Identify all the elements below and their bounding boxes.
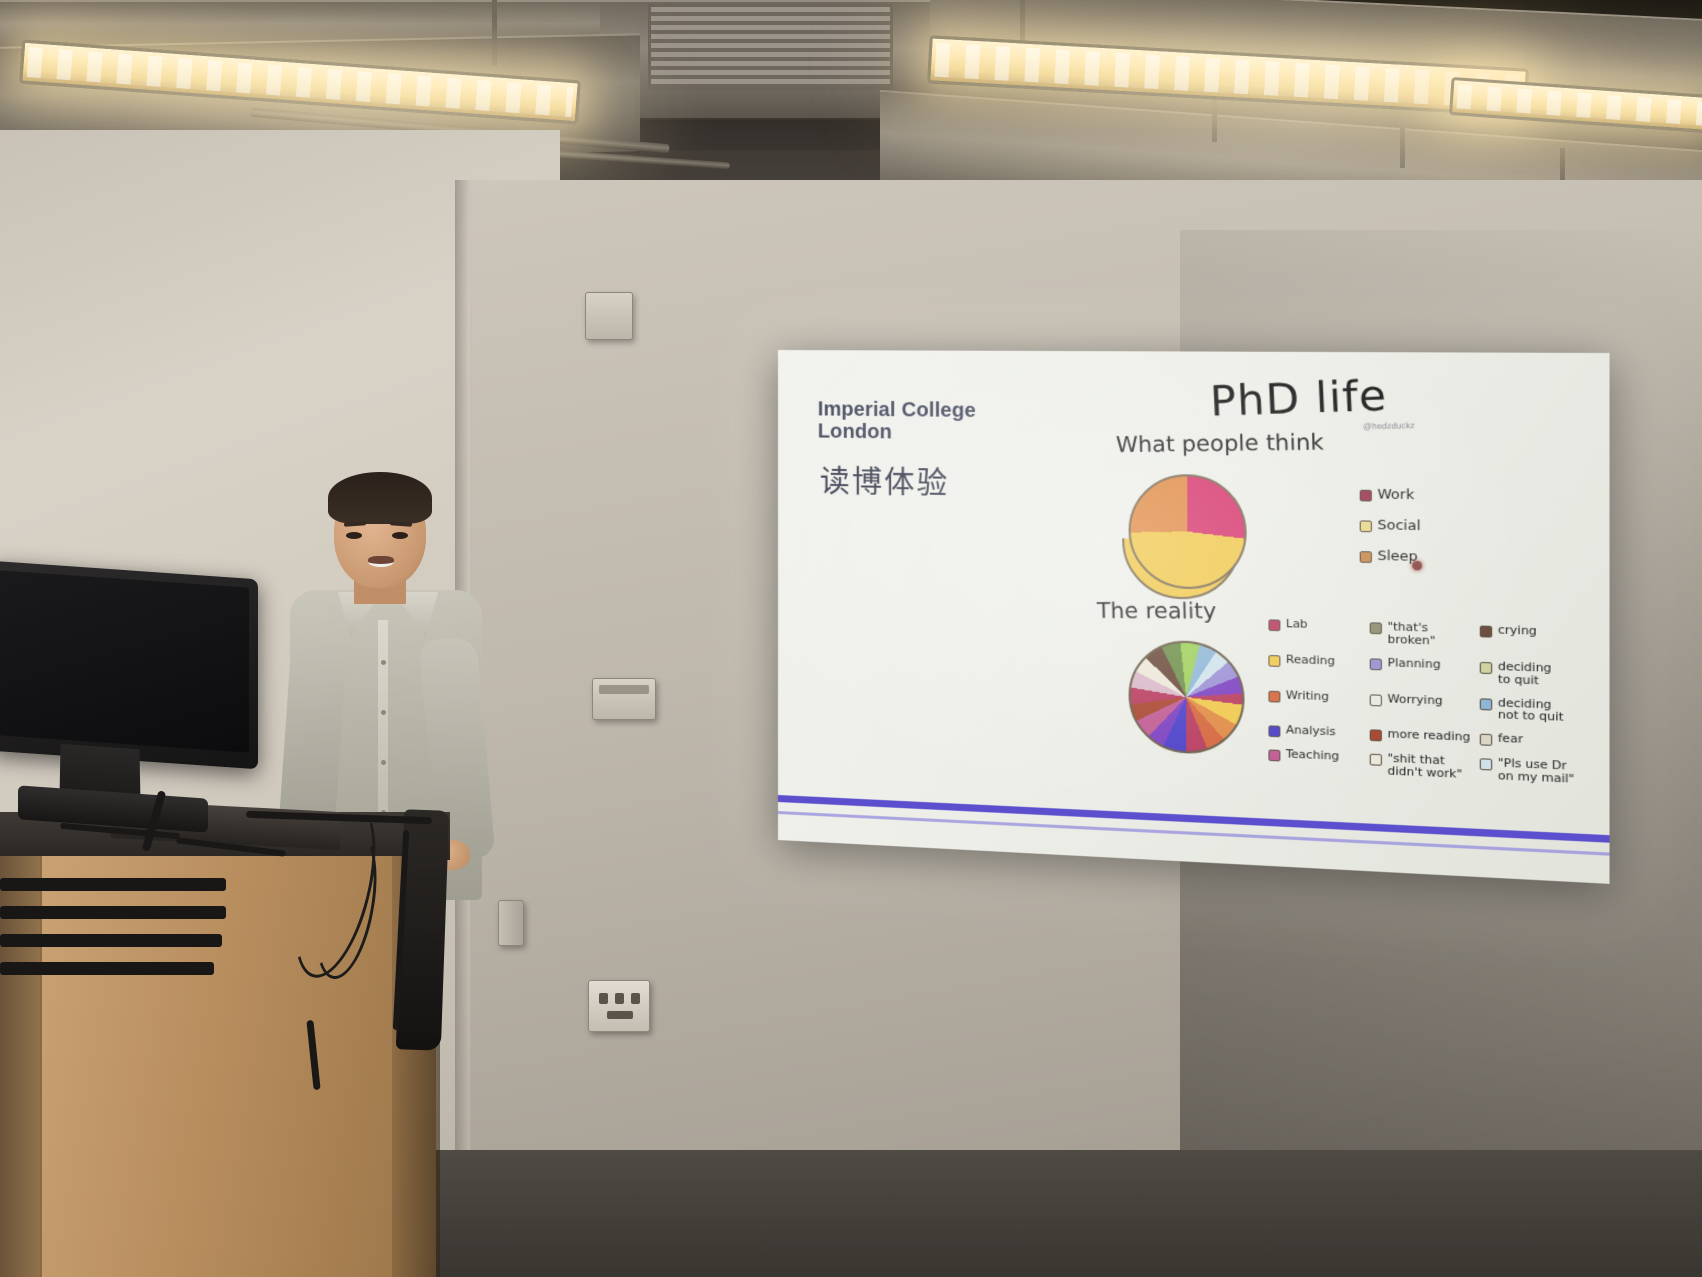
legend-swatch-icon: [1370, 658, 1382, 670]
shirt-button: [381, 660, 386, 665]
monitor-bezel: [0, 561, 258, 770]
legend2-label: "shit that didn't work": [1387, 753, 1462, 781]
legend2-label: Worrying: [1387, 692, 1442, 707]
monitor-screen[interactable]: [0, 570, 249, 752]
legend-swatch-icon: [1268, 690, 1280, 702]
legend-swatch-icon: [1268, 750, 1280, 762]
legend2-item: deciding to quit: [1480, 659, 1585, 688]
legend-swatch-icon: [1360, 520, 1372, 532]
legend2-item: Writing: [1268, 688, 1365, 717]
legend-swatch-icon: [1370, 622, 1382, 634]
legend2-item: "shit that didn't work": [1370, 752, 1476, 782]
legend2-label: Teaching: [1286, 748, 1339, 763]
legend2-label: "Pls use Dr on my mail": [1498, 757, 1574, 786]
wall-power-socket[interactable]: [588, 980, 650, 1032]
legend-swatch-icon: [1268, 726, 1280, 738]
podium-vent-slot: [0, 906, 226, 919]
legend2-item: crying: [1480, 623, 1585, 652]
wall-control-panel: [592, 678, 656, 720]
legend-swatch-icon: [1480, 625, 1492, 637]
legend-the-reality: Lab"that's broken"cryingReadingPlanningd…: [1268, 617, 1585, 797]
legend2-label: Analysis: [1286, 724, 1336, 738]
pie-chart-the-reality: [1129, 639, 1245, 756]
legend2-item: Teaching: [1268, 748, 1365, 777]
floor: [400, 1150, 1702, 1277]
legend-swatch-icon: [1370, 754, 1382, 766]
slide: Imperial College London 读博体验 PhD life @h…: [778, 350, 1610, 884]
legend-swatch-icon: [1360, 490, 1372, 502]
light-hanger-4: [1400, 120, 1405, 168]
legend2-label: more reading: [1387, 728, 1470, 744]
podium-vent-slot: [0, 934, 222, 947]
legend2-item: "that's broken": [1370, 620, 1476, 648]
lecture-room-photo: Imperial College London 读博体验 PhD life @h…: [0, 0, 1702, 1277]
legend2-item: "Pls use Dr on my mail": [1480, 756, 1585, 786]
legend2-label: "that's broken": [1387, 621, 1435, 648]
shirt-button: [381, 760, 386, 765]
projection-screen: Imperial College London 读博体验 PhD life @h…: [778, 350, 1610, 884]
presenter-hair: [328, 472, 432, 524]
comic-artist-handle: @hedzduckz: [1363, 421, 1415, 432]
legend2-label: Writing: [1286, 689, 1329, 703]
presenter-eye-right: [392, 532, 408, 539]
presenter-eye-left: [346, 532, 362, 539]
presenter-mouth: [368, 556, 394, 567]
legend1-label: Social: [1377, 519, 1420, 535]
legend2-label: Lab: [1286, 618, 1308, 631]
chart1-title: What people think: [1116, 429, 1325, 457]
chart2-title: The reality: [1097, 598, 1217, 623]
monitor-base: [18, 785, 208, 832]
imperial-college-logo: Imperial College London: [818, 398, 976, 445]
legend2-label: deciding not to quit: [1498, 696, 1564, 724]
lectern-podium: [0, 812, 450, 1277]
podium-vent-slot: [0, 878, 226, 891]
ceiling-air-vent: [648, 4, 893, 90]
shirt-button: [381, 710, 386, 715]
legend-swatch-icon: [1370, 694, 1382, 706]
legend1-item: Social: [1360, 518, 1421, 534]
legend-swatch-icon: [1268, 619, 1280, 631]
legend2-item: fear: [1480, 732, 1585, 750]
logo-line-1: Imperial College: [818, 398, 976, 422]
legend-swatch-icon: [1480, 662, 1492, 674]
legend2-item: Reading: [1268, 653, 1365, 681]
legend2-label: crying: [1498, 624, 1537, 638]
legend2-item: more reading: [1370, 727, 1476, 745]
legend-swatch-icon: [1480, 734, 1492, 746]
comic-title: PhD life: [1209, 372, 1389, 426]
legend2-label: fear: [1498, 732, 1523, 746]
legend1-item: Work: [1360, 488, 1421, 504]
light-hanger-3: [1212, 96, 1217, 142]
comic-red-dot: [1412, 561, 1422, 571]
light-hanger-1: [492, 0, 497, 66]
legend1-label: Work: [1377, 488, 1414, 504]
podium-front-panel: [40, 856, 436, 1277]
slide-title: 读博体验: [820, 456, 949, 503]
legend-swatch-icon: [1480, 759, 1492, 771]
legend2-item: Analysis: [1268, 723, 1365, 741]
desktop-monitor[interactable]: [0, 570, 280, 840]
legend2-item: Lab: [1268, 617, 1365, 645]
legend-swatch-icon: [1268, 655, 1280, 667]
legend2-label: Planning: [1387, 656, 1440, 670]
legend2-item: deciding not to quit: [1480, 696, 1585, 725]
legend2-label: deciding to quit: [1498, 660, 1552, 687]
logo-line-2: London: [818, 421, 976, 446]
wall-speaker-box: [585, 292, 633, 340]
wall-trunking: [498, 900, 524, 946]
legend-swatch-icon: [1370, 730, 1382, 742]
legend-swatch-icon: [1480, 698, 1492, 710]
legend2-label: Reading: [1286, 653, 1335, 667]
legend2-item: Planning: [1370, 656, 1476, 685]
podium-vent-slot: [0, 962, 214, 975]
legend2-item: Worrying: [1370, 692, 1476, 721]
phd-life-comic: PhD life @hedzduckz What people think Wo…: [1084, 361, 1603, 797]
legend-swatch-icon: [1360, 551, 1372, 563]
